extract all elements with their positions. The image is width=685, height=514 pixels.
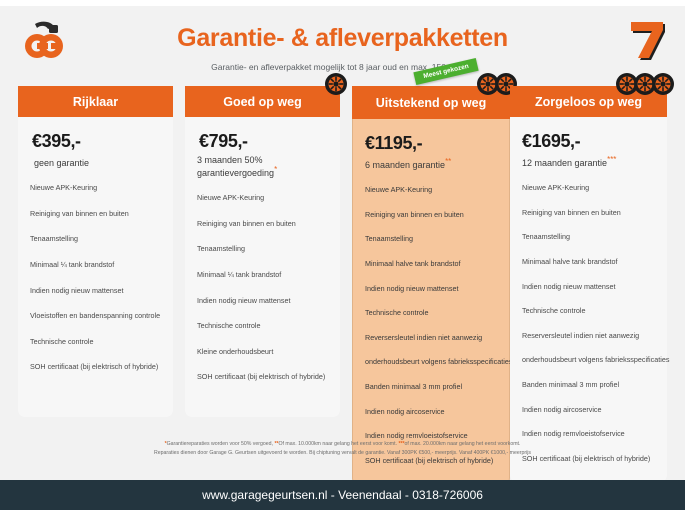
tyre-rating-1 (330, 72, 348, 96)
feature-list-3: Nieuwe APK-KeuringReiniging van binnen e… (522, 184, 655, 464)
package-name-2: Uitstekend op weg (376, 96, 486, 110)
feature-item: Nieuwe APK-Keuring (197, 194, 328, 203)
package-warranty-3: 12 maanden garantie*** (522, 155, 655, 168)
package-name-0: Rijklaar (73, 95, 118, 109)
footer-bar: www.garagegeurtsen.nl - Veenendaal - 031… (0, 480, 685, 510)
feature-item: Banden minimaal 3 mm profiel (522, 381, 655, 390)
tyre-rating-3 (621, 72, 675, 96)
feature-item: Indien nodig nieuw mattenset (522, 283, 655, 292)
feature-item: SOH certificaat (bij elektrisch of hybri… (365, 457, 497, 466)
fineprint: *Garantiereparaties worden voor 50% verg… (0, 440, 685, 458)
package-body-1: €795,- 3 maanden 50% garantievergoeding*… (185, 117, 340, 417)
feature-item: Indien nodig nieuw mattenset (197, 297, 328, 306)
feature-item: Reiniging van binnen en buiten (365, 211, 497, 220)
package-column-uitstekend-op-weg[interactable]: Meest gekozen Uitstekend op weg €1195,- … (352, 86, 510, 485)
warranty-sup-3: *** (607, 155, 616, 164)
feature-item: Minimaal ¼ tank brandstof (30, 261, 161, 270)
feature-list-2: Nieuwe APK-KeuringReiniging van binnen e… (365, 186, 497, 466)
feature-item: Nieuwe APK-Keuring (522, 184, 655, 193)
feature-item: Tenaamstelling (522, 233, 655, 242)
feature-item: Technische controle (522, 307, 655, 316)
package-body-3: €1695,- 12 maanden garantie*** Nieuwe AP… (510, 117, 667, 482)
package-header-0: Rijklaar (18, 86, 173, 117)
feature-item: Banden minimaal 3 mm profiel (365, 383, 497, 392)
feature-item: Reiniging van binnen en buiten (30, 210, 161, 219)
feature-item: Reiniging van binnen en buiten (522, 209, 655, 218)
feature-item: Tenaamstelling (30, 235, 161, 244)
package-body-2: €1195,- 6 maanden garantie** Nieuwe APK-… (352, 119, 510, 485)
feature-item: Reversersleutel indien niet aanwezig (365, 334, 497, 343)
feature-item: Technische controle (197, 322, 328, 331)
feature-item: Minimaal halve tank brandstof (522, 258, 655, 267)
package-column-goed-op-weg[interactable]: Goed op weg €795,- 3 maanden 50% garanti… (185, 86, 340, 417)
fineprint-line-1: *Garantiereparaties worden voor 50% verg… (110, 440, 575, 449)
feature-item: Technische controle (30, 338, 161, 347)
warranty-text-1: 3 maanden 50% garantievergoeding (197, 155, 274, 178)
fineprint-text-1b: Of max. 10.000km naar gelang het eerst v… (279, 441, 399, 447)
fineprint-text-1a: Garantiereparaties worden voor 50% vergo… (167, 441, 275, 447)
feature-item: Vloeistoffen en bandenspanning controle (30, 312, 161, 321)
feature-item: Indien nodig nieuw mattenset (30, 287, 161, 296)
feature-item: Minimaal ¼ tank brandstof (197, 271, 328, 280)
feature-item: Minimaal halve tank brandstof (365, 260, 497, 269)
feature-item: SOH certificaat (bij elektrisch of hybri… (30, 363, 161, 372)
package-name-3: Zorgeloos op weg (535, 95, 642, 109)
feature-item: Indien nodig nieuw mattenset (365, 285, 497, 294)
package-body-0: €395,- geen garantie Nieuwe APK-KeuringR… (18, 117, 173, 417)
feature-list-0: Nieuwe APK-KeuringReiniging van binnen e… (30, 184, 161, 372)
package-price-0: €395,- (32, 131, 161, 152)
fineprint-text-1c: of max. 20.000km naar gelang het eerst v… (405, 441, 521, 447)
feature-item: onderhoudsbeurt volgens fabrieksspecific… (522, 356, 655, 365)
warranty-text-2: 6 maanden garantie (365, 160, 445, 170)
package-header-2: Uitstekend op weg (352, 86, 510, 119)
package-warranty-2: 6 maanden garantie** (365, 157, 497, 170)
feature-item: Reserversleutel indien niet aanwezig (522, 332, 655, 341)
package-column-rijklaar[interactable]: Rijklaar €395,- geen garantie Nieuwe APK… (18, 86, 173, 417)
feature-item: Nieuwe APK-Keuring (30, 184, 161, 193)
package-price-2: €1195,- (365, 133, 497, 154)
page-subtitle: Garantie- en afleverpakket mogelijk tot … (0, 62, 685, 72)
package-price-1: €795,- (199, 131, 328, 152)
feature-item: Technische controle (365, 309, 497, 318)
feature-item: Indien nodig aircoservice (365, 408, 497, 417)
package-header-1: Goed op weg (185, 86, 340, 117)
package-columns: Rijklaar €395,- geen garantie Nieuwe APK… (0, 86, 685, 430)
package-warranty-0: geen garantie (34, 155, 161, 168)
footer-contact-text: www.garagegeurtsen.nl - Veenendaal - 031… (202, 488, 483, 502)
warranty-sup-1: * (274, 165, 277, 174)
pricing-poster: Garantie- & afleverpakketten Garantie- e… (0, 0, 685, 514)
package-header-3: Zorgeloos op weg (510, 86, 667, 117)
package-column-zorgeloos-op-weg[interactable]: Zorgeloos op weg €1695,- 12 maanden gara… (510, 86, 667, 482)
feature-item: Reiniging van binnen en buiten (197, 220, 328, 229)
warranty-sup-2: ** (445, 157, 451, 166)
feature-item: Tenaamstelling (197, 245, 328, 254)
fineprint-line-2: Reparaties dienen door Garage G. Geurtse… (110, 449, 575, 458)
tyre-icon (324, 72, 348, 96)
feature-item: Indien nodig remvloeistofservice (522, 430, 655, 439)
warranty-text-3: 12 maanden garantie (522, 158, 607, 168)
feature-item: SOH certificaat (bij elektrisch of hybri… (197, 373, 328, 382)
page-title: Garantie- & afleverpakketten (0, 24, 685, 53)
bottom-margin (0, 510, 685, 514)
feature-list-1: Nieuwe APK-KeuringReiniging van binnen e… (197, 194, 328, 382)
feature-item: Tenaamstelling (365, 235, 497, 244)
seven-logo-icon (623, 16, 669, 62)
feature-item: Indien nodig aircoservice (522, 406, 655, 415)
feature-item: Kleine onderhoudsbeurt (197, 348, 328, 357)
package-name-1: Goed op weg (223, 95, 301, 109)
package-price-3: €1695,- (522, 131, 655, 152)
feature-item: Nieuwe APK-Keuring (365, 186, 497, 195)
tyre-icon (651, 72, 675, 96)
package-warranty-1: 3 maanden 50% garantievergoeding* (197, 155, 328, 178)
feature-item: onderhoudsbeurt volgens fabrieksspecific… (365, 358, 497, 367)
warranty-text-0: geen garantie (34, 158, 89, 168)
